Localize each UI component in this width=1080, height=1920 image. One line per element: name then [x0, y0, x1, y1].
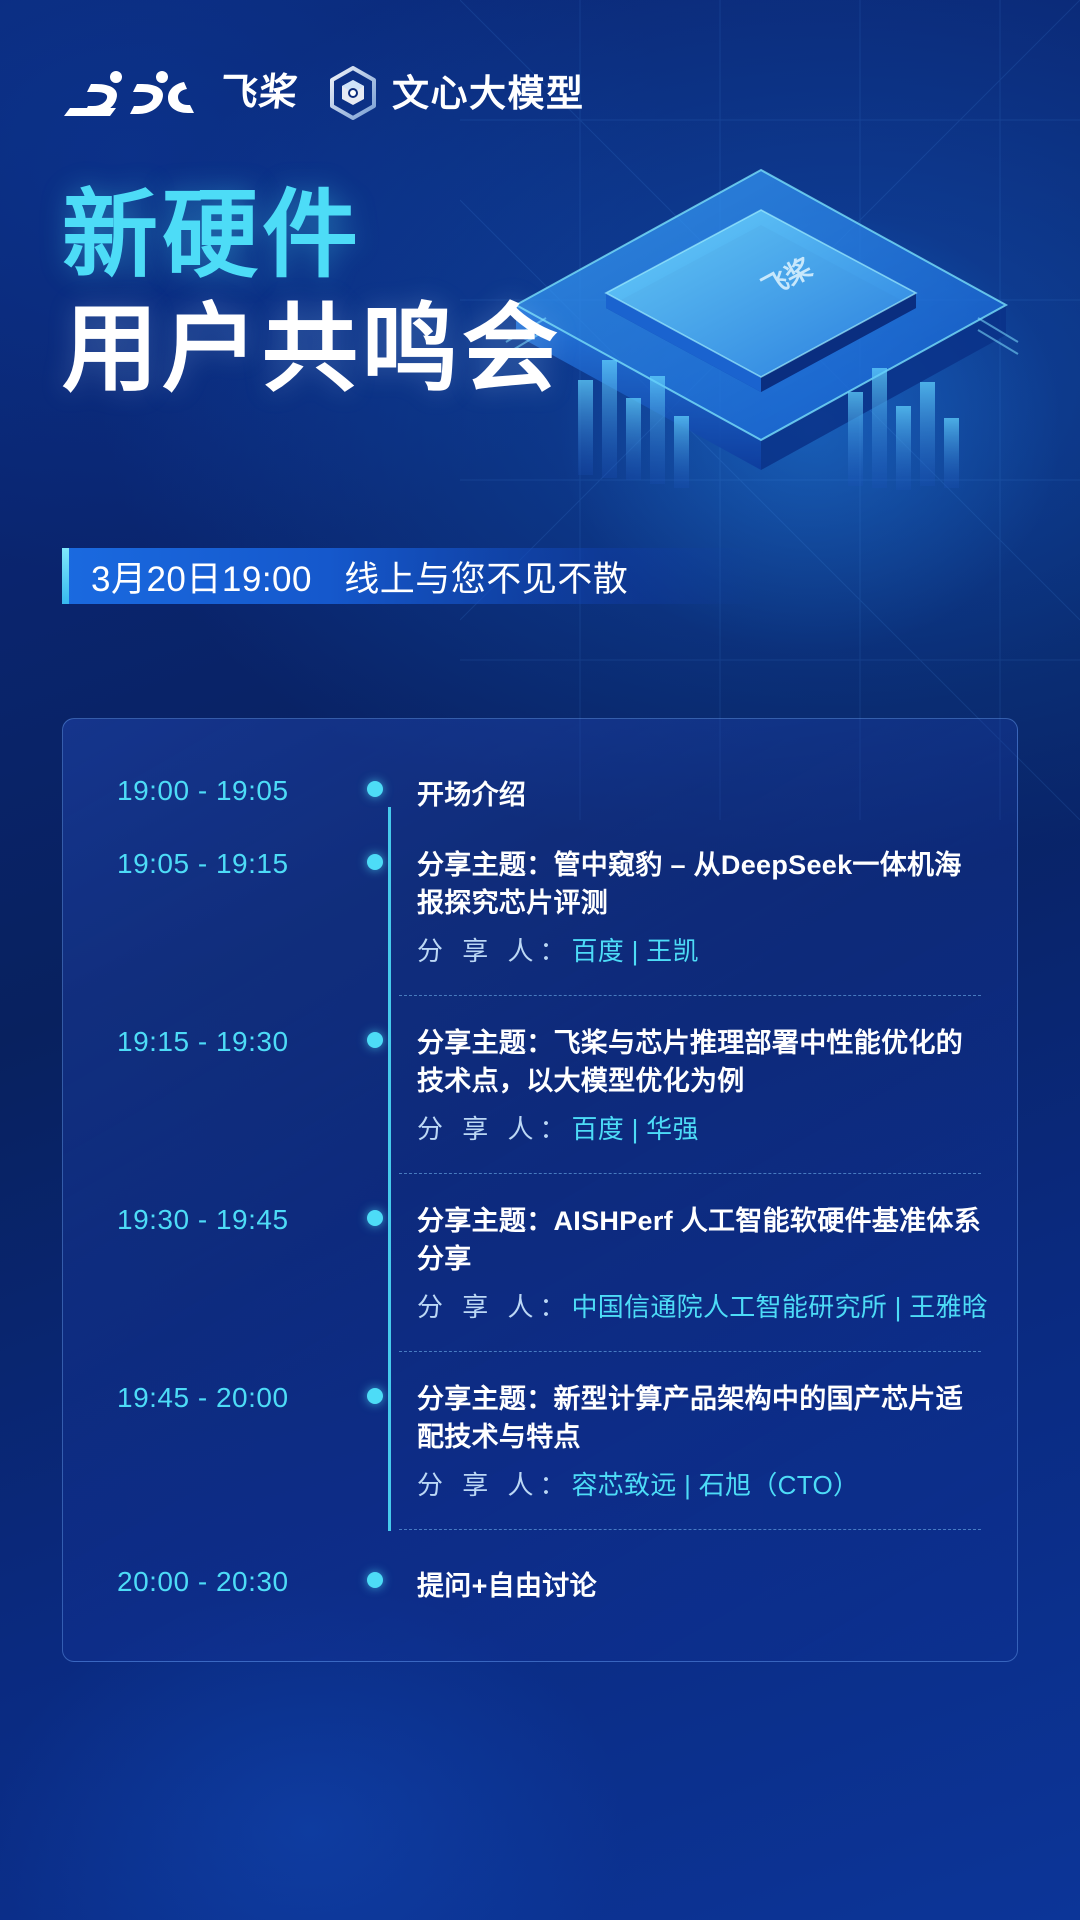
- speaker-label: 分 享 人：: [417, 1470, 571, 1500]
- agenda-item-dot-column: [345, 1564, 405, 1588]
- agenda-item-dot-column: [345, 773, 405, 797]
- topic-label: 分享主题：: [417, 850, 554, 880]
- agenda-panel: 19:00 - 19:05 开场介绍 19:05 - 19:15 分享主题：管中…: [62, 718, 1018, 1662]
- speaker-label: 分 享 人：: [417, 1114, 571, 1144]
- agenda-item: 20:00 - 20:30 提问+自由讨论: [99, 1564, 981, 1603]
- agenda-item-time: 19:00 - 19:05: [99, 773, 345, 807]
- page-title: 新硬件 用户共鸣会: [62, 188, 562, 398]
- spacer: [99, 1352, 981, 1380]
- ernie-logo: 文心大模型: [328, 66, 585, 120]
- agenda-item-speaker: 分 享 人：百度 | 华强: [417, 1111, 981, 1147]
- agenda-item-time: 20:00 - 20:30: [99, 1564, 345, 1598]
- agenda-item-body: 分享主题：管中窥豹 – 从DeepSeek一体机海报探究芯片评测 分 享 人：百…: [405, 846, 981, 969]
- agenda-item-title: 提问+自由讨论: [417, 1564, 981, 1603]
- timeline-dot-icon: [367, 1572, 383, 1588]
- agenda-item-body: 开场介绍: [405, 773, 981, 812]
- topic-label: 分享主题：: [417, 1384, 554, 1414]
- agenda-item: 19:30 - 19:45 分享主题：AISHPerf 人工智能软硬件基准体系分…: [99, 1202, 981, 1325]
- agenda-item-body: 分享主题：AISHPerf 人工智能软硬件基准体系分享 分 享 人：中国信通院人…: [405, 1202, 988, 1325]
- paddlepaddle-logo-text: 飞桨: [218, 74, 300, 112]
- agenda-item: 19:45 - 20:00 分享主题：新型计算产品架构中的国产芯片适配技术与特点…: [99, 1380, 981, 1503]
- speaker-label: 分 享 人：: [417, 936, 571, 966]
- agenda-item-time: 19:15 - 19:30: [99, 1024, 345, 1058]
- spacer: [99, 812, 981, 846]
- speaker-label: 分 享 人：: [417, 1292, 571, 1322]
- speaker-name: 中国信通院人工智能研究所 | 王雅晗: [571, 1292, 988, 1322]
- agenda-item-title: 分享主题：管中窥豹 – 从DeepSeek一体机海报探究芯片评测: [417, 846, 981, 923]
- spacer: [99, 1174, 981, 1202]
- topic-label: 分享主题：: [417, 1028, 554, 1058]
- agenda-item-dot-column: [345, 1024, 405, 1048]
- agenda-item-time: 19:45 - 20:00: [99, 1380, 345, 1414]
- agenda-item: 19:00 - 19:05 开场介绍: [99, 773, 981, 812]
- paddlepaddle-mark-icon: [62, 68, 212, 118]
- timeline-dot-icon: [367, 1210, 383, 1226]
- agenda-item-body: 分享主题：新型计算产品架构中的国产芯片适配技术与特点 分 享 人：容芯致远 | …: [405, 1380, 981, 1503]
- paddlepaddle-logo: 飞桨: [62, 68, 298, 118]
- spacer: [99, 1530, 981, 1564]
- event-date-bar: 3月20日19:00 线上与您不见不散: [62, 548, 762, 604]
- timeline-dot-icon: [367, 1388, 383, 1404]
- event-datetime: 3月20日19:00: [91, 560, 312, 599]
- poster-root: 飞桨 文心大模型: [0, 0, 1080, 1920]
- agenda-item-dot-column: [345, 1380, 405, 1404]
- agenda-item-speaker: 分 享 人：百度 | 王凯: [417, 933, 981, 969]
- agenda-item-title: 分享主题：飞桨与芯片推理部署中性能优化的技术点，以大模型优化为例: [417, 1024, 981, 1101]
- agenda-item: 19:15 - 19:30 分享主题：飞桨与芯片推理部署中性能优化的技术点，以大…: [99, 1024, 981, 1147]
- speaker-name: 容芯致远 | 石旭（CTO）: [571, 1470, 859, 1500]
- chip-label: 飞桨: [757, 252, 818, 303]
- spacer: [99, 996, 981, 1024]
- event-datetime-text: 3月20日19:00 线上与您不见不散: [69, 551, 654, 602]
- headline-line-1: 新硬件: [62, 188, 562, 284]
- agenda-item: 19:05 - 19:15 分享主题：管中窥豹 – 从DeepSeek一体机海报…: [99, 846, 981, 969]
- chip-isometric-illustration: 飞桨: [486, 130, 1046, 550]
- topic-label: 分享主题：: [417, 1206, 554, 1236]
- agenda-item-time: 19:05 - 19:15: [99, 846, 345, 880]
- agenda-item-dot-column: [345, 1202, 405, 1226]
- timeline-dot-icon: [367, 1032, 383, 1048]
- speaker-name: 百度 | 王凯: [571, 936, 698, 966]
- agenda-item-time: 19:30 - 19:45: [99, 1202, 345, 1236]
- ernie-cube-logo-icon: [328, 66, 378, 120]
- agenda-item-body: 分享主题：飞桨与芯片推理部署中性能优化的技术点，以大模型优化为例 分 享 人：百…: [405, 1024, 981, 1147]
- agenda-item-body: 提问+自由讨论: [405, 1564, 981, 1603]
- agenda-item-speaker: 分 享 人：中国信通院人工智能研究所 | 王雅晗: [417, 1289, 988, 1325]
- timeline-dot-icon: [367, 781, 383, 797]
- header-logos: 飞桨 文心大模型: [62, 62, 585, 124]
- ernie-logo-text: 文心大模型: [392, 75, 585, 112]
- timeline-dot-icon: [367, 854, 383, 870]
- agenda-item-title: 开场介绍: [417, 773, 981, 812]
- speaker-name: 百度 | 华强: [571, 1114, 698, 1144]
- agenda-item-title: 分享主题：AISHPerf 人工智能软硬件基准体系分享: [417, 1202, 988, 1279]
- agenda-item-speaker: 分 享 人：容芯致远 | 石旭（CTO）: [417, 1467, 981, 1503]
- headline-line-2: 用户共鸣会: [62, 302, 562, 398]
- agenda-item-dot-column: [345, 846, 405, 870]
- agenda-item-title: 分享主题：新型计算产品架构中的国产芯片适配技术与特点: [417, 1380, 981, 1457]
- date-bar-accent: [62, 548, 69, 604]
- event-tagline: 线上与您不见不散: [344, 560, 628, 599]
